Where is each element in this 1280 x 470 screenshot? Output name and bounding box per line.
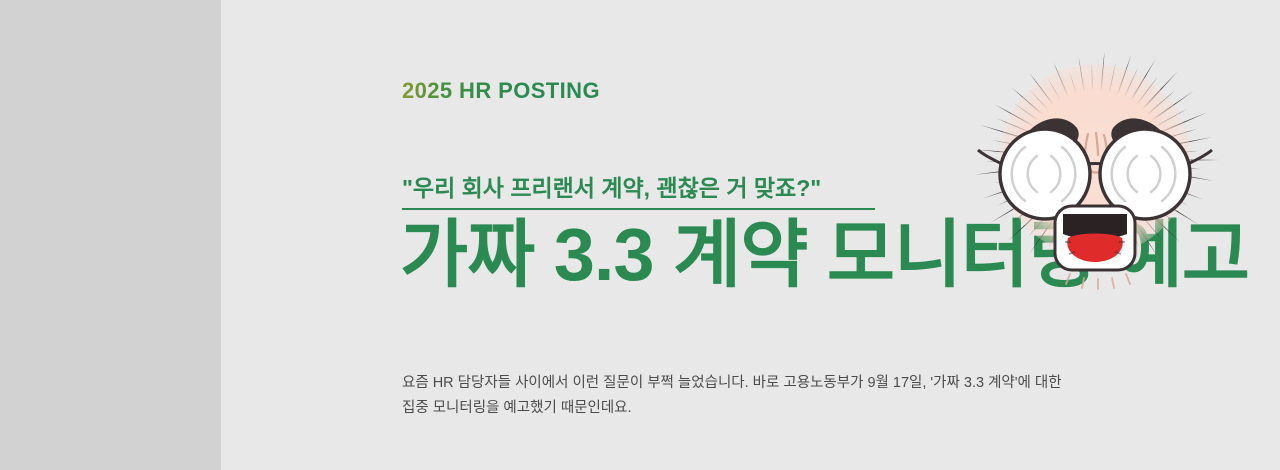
open-mouth	[1055, 206, 1135, 270]
eyebrow-label: 2025 HR POSTING	[402, 80, 600, 102]
body-paragraph: 요즘 HR 담당자들 사이에서 이런 질문이 부쩍 늘었습니다. 바로 고용노동…	[402, 371, 1092, 422]
poster-canvas: 2025 HR POSTING "우리 회사 프리랜서 계약, 괜찮은 거 맞죠…	[0, 0, 1280, 470]
quote-underline	[402, 208, 875, 210]
glasses-right-temple	[1188, 150, 1212, 164]
quote-block: "우리 회사 프리랜서 계약, 괜찮은 거 맞죠?"	[402, 174, 875, 210]
quote-text: "우리 회사 프리랜서 계약, 괜찮은 거 맞죠?"	[402, 174, 875, 208]
body-line-2: 집중 모니터링을 예고했기 때문인데요.	[402, 396, 1092, 421]
left-gray-rail	[0, 0, 221, 470]
chin-motion-lines	[1066, 274, 1130, 289]
angry-shocked-face-illustration	[938, 28, 1250, 296]
body-line-1: 요즘 HR 담당자들 사이에서 이런 질문이 부쩍 늘었습니다. 바로 고용노동…	[402, 371, 1092, 396]
